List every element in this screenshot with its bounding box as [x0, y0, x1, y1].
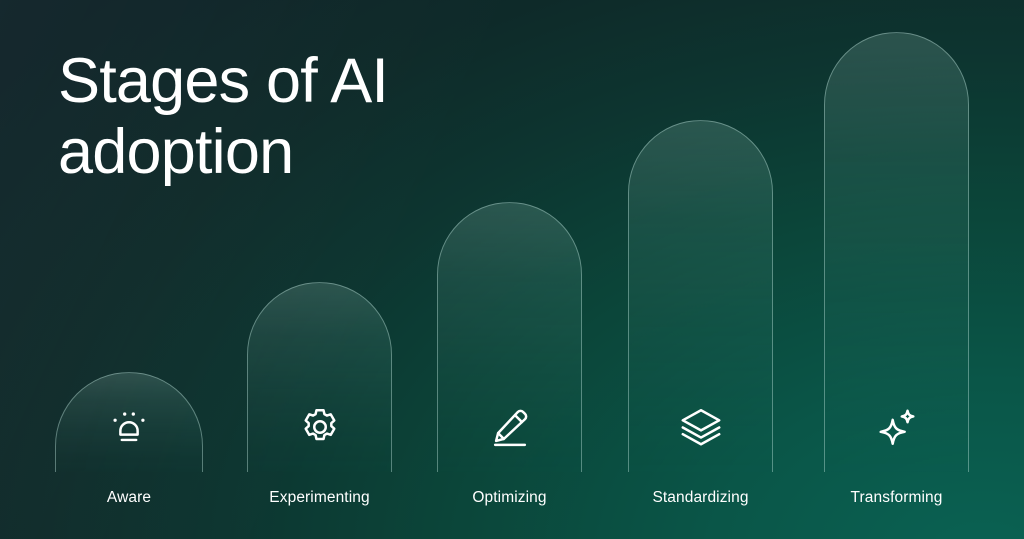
bar-group-transforming: Transforming — [824, 0, 969, 539]
gear-icon — [297, 404, 343, 450]
bar-standardizing — [628, 120, 773, 472]
layers-icon — [678, 404, 724, 450]
bar-experimenting — [247, 282, 392, 472]
bar-label-standardizing: Standardizing — [652, 489, 748, 507]
bar-optimizing — [437, 202, 582, 472]
lightbulb-icon — [106, 404, 152, 450]
bar-label-aware: Aware — [107, 489, 151, 507]
bar-group-standardizing: Standardizing — [628, 0, 773, 539]
bar-label-transforming: Transforming — [851, 489, 943, 507]
bar-aware — [55, 372, 203, 472]
infographic-canvas: Stages of AI adoption Aware — [0, 0, 1024, 539]
sparkle-icon — [874, 404, 920, 450]
bar-label-experimenting: Experimenting — [269, 489, 369, 507]
page-title: Stages of AI adoption — [58, 46, 578, 187]
bar-transforming — [824, 32, 969, 472]
bar-label-optimizing: Optimizing — [472, 489, 546, 507]
pencil-icon — [487, 404, 533, 450]
